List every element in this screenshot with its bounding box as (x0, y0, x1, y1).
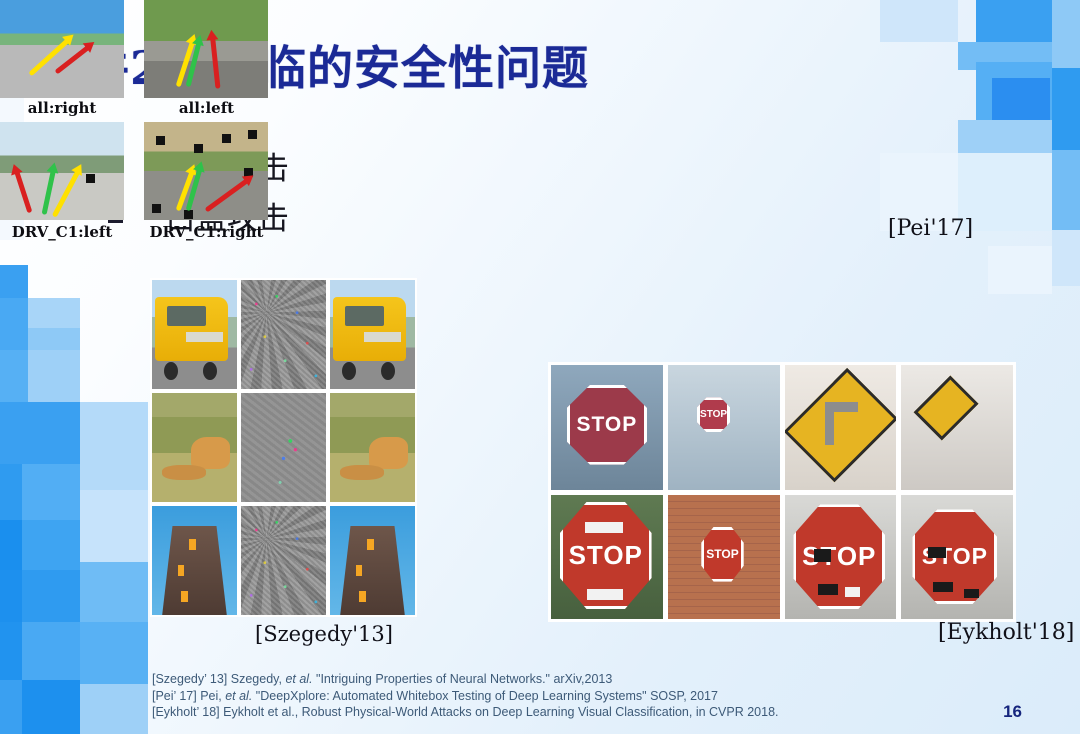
image-perturbation-noise (241, 280, 326, 389)
image-right-turn-sign-clean (785, 365, 897, 490)
deco-square (22, 464, 80, 520)
deco-square (958, 120, 1052, 153)
reference-item: [Pei’ 17] Pei, et al. "DeepXplore: Autom… (152, 688, 779, 705)
deco-square (1052, 0, 1080, 68)
label-drv-c1-right: DRV_C1:right (144, 222, 268, 242)
reference-rest: Robust Physical-World Attacks on Deep Le… (302, 705, 779, 719)
deco-square (988, 246, 1052, 294)
image-right-turn-sign-clean-distant (901, 365, 1013, 490)
image-temple-original (152, 506, 237, 615)
image-perturbation-noise (241, 506, 326, 615)
deco-square (80, 562, 148, 622)
deco-square (80, 684, 148, 734)
deco-square (0, 464, 22, 520)
image-drive-all-left (144, 0, 268, 98)
reference-tag: [Eykholt’ 18] (152, 705, 220, 719)
deco-square (22, 680, 80, 734)
label-all-right: all:right (0, 98, 124, 118)
image-stop-sign-love-hate-distant: STOP (668, 495, 780, 620)
image-drive-drv-c1-left (0, 122, 124, 220)
image-cheetah-adversarial (330, 393, 415, 502)
reference-rest: "DeepXplore: Automated Whitebox Testing … (252, 689, 718, 703)
deco-square (0, 680, 22, 734)
figure-szegedy (150, 278, 417, 617)
deco-square (1052, 230, 1080, 286)
reference-etal: et al. (225, 689, 252, 703)
reference-tag: [Szegedy’ 13] (152, 672, 227, 686)
caption-szegedy: [Szegedy'13] (255, 622, 393, 646)
image-stop-sign-subtle: STOP (551, 365, 663, 490)
reference-tag: [Pei’ 17] (152, 689, 197, 703)
label-drv-c1-left: DRV_C1:left (0, 222, 124, 242)
image-drive-drv-c1-right (144, 122, 268, 220)
deco-square (992, 78, 1050, 123)
deco-square (0, 622, 22, 680)
reference-authors: Eykholt et al., (223, 705, 302, 719)
caption-eykholt: [Eykholt'18] (938, 620, 1074, 645)
image-perturbation-noise (241, 393, 326, 502)
reference-list: [Szegedy’ 13] Szegedy, et al. "Intriguin… (152, 671, 779, 721)
image-stop-sign-subtle-distant: STOP (668, 365, 780, 490)
deco-square (80, 490, 148, 562)
figure-eykholt: STOP STOP STOP STOP STO (548, 362, 1016, 622)
reference-item: [Szegedy’ 13] Szegedy, et al. "Intriguin… (152, 671, 779, 688)
deco-square (28, 328, 80, 350)
reference-authors: Szegedy, (231, 672, 286, 686)
deco-square (28, 298, 80, 328)
reference-authors: Pei, (200, 689, 225, 703)
page-number: 16 (1003, 702, 1022, 722)
image-stop-sign-stickers-distant: STOP (901, 495, 1013, 620)
image-temple-adversarial (330, 506, 415, 615)
image-cheetah-original (152, 393, 237, 502)
deco-square (80, 622, 148, 684)
reference-rest: "Intriguing Properties of Neural Network… (313, 672, 613, 686)
deco-square (80, 402, 148, 490)
image-school-bus-original (152, 280, 237, 389)
deco-square (28, 350, 80, 402)
label-all-left: all:left (144, 98, 268, 118)
deco-square (0, 570, 22, 622)
deco-square (22, 570, 80, 622)
image-stop-sign-love-hate: STOP (551, 495, 663, 620)
deco-square (0, 298, 28, 328)
image-school-bus-adversarial (330, 280, 415, 389)
deco-square (22, 622, 80, 680)
deco-square (22, 520, 80, 570)
slide-canvas: 软件2.0面临的安全性问题 黑盒攻击 白盒攻击 (0, 0, 1080, 734)
deco-square (0, 265, 28, 298)
figure-pei: all:right all:left (0, 0, 268, 248)
deco-square (0, 520, 22, 570)
deco-square (0, 402, 80, 464)
deco-square (1052, 150, 1080, 230)
image-drive-all-right (0, 0, 124, 98)
deco-square (0, 328, 28, 350)
caption-pei: [Pei'17] (888, 216, 973, 241)
image-stop-sign-stickers: STOP (785, 495, 897, 620)
reference-etal: et al. (285, 672, 312, 686)
reference-item: [Eykholt’ 18] Eykholt et al., Robust Phy… (152, 704, 779, 721)
deco-square (1052, 68, 1080, 150)
deco-square (880, 0, 958, 42)
deco-square (0, 350, 28, 402)
